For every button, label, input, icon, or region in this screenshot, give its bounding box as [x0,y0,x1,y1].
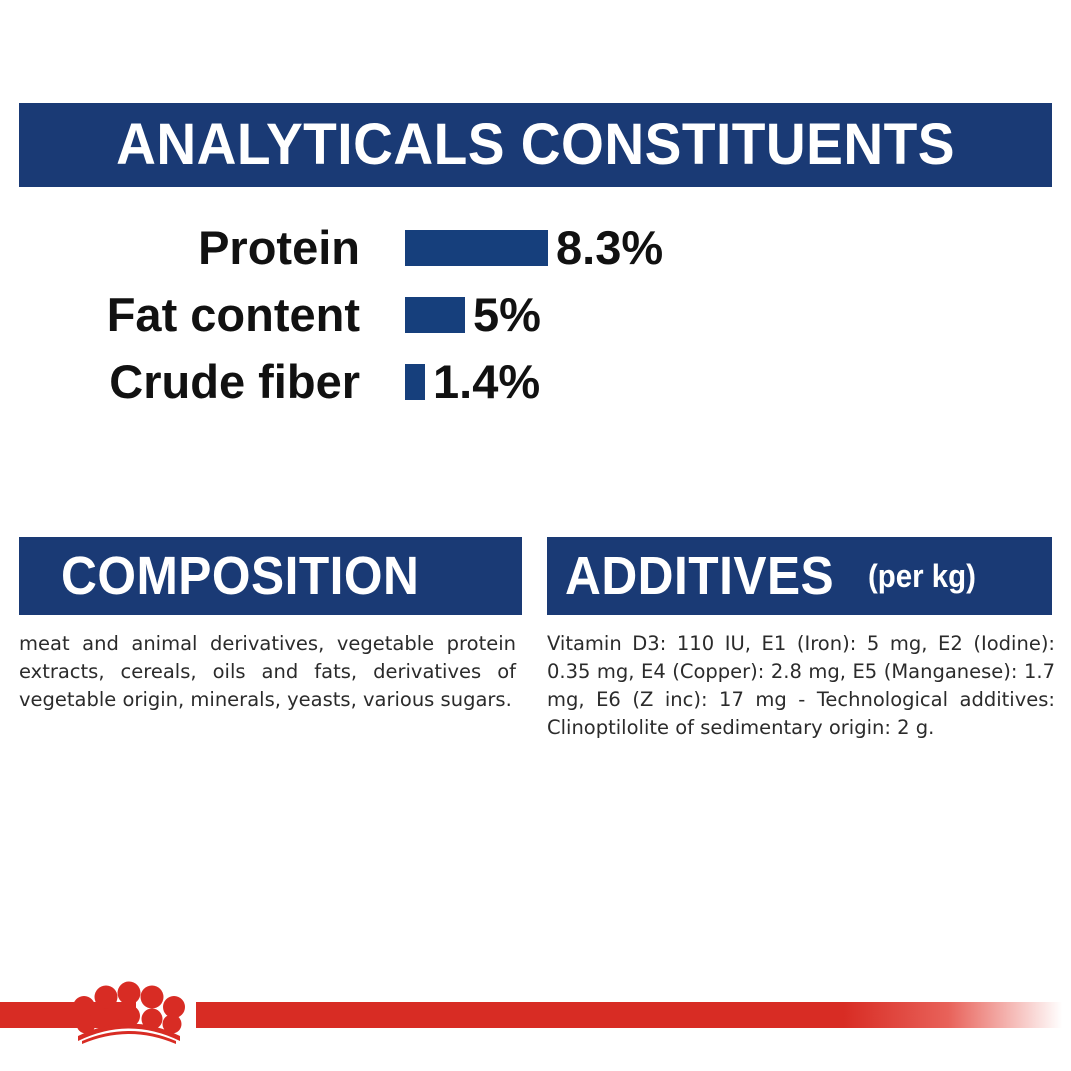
additives-header: ADDITIVES (per kg) [547,537,1052,615]
nutrient-bar-protein [405,230,548,266]
nutrient-label-protein: Protein [0,224,360,271]
footer [0,960,1071,1071]
nutrient-value-protein: 8.3% [556,224,663,271]
nutrient-row-fat-content: Fat content 5% [0,281,1071,348]
analytical-constituents-header: ANALYTICALS CONSTITUENTS [19,103,1052,187]
nutrient-label-fat-content: Fat content [0,291,360,338]
nutrient-label-crude-fiber: Crude fiber [0,358,360,405]
composition-header: COMPOSITION [19,537,522,615]
nutrition-label-page: ANALYTICALS CONSTITUENTS Protein 8.3% Fa… [0,0,1071,1071]
nutrient-row-crude-fiber: Crude fiber 1.4% [0,348,1071,415]
additives-title: ADDITIVES [565,549,834,603]
nutrient-row-protein: Protein 8.3% [0,214,1071,281]
nutrient-bar-wrap-crude-fiber: 1.4% [405,358,540,405]
additives-subtitle: (per kg) [868,560,976,592]
nutrient-bar-fat-content [405,297,465,333]
composition-title: COMPOSITION [61,549,419,603]
footer-stripe-right [196,1002,1071,1028]
nutrient-bar-wrap-protein: 8.3% [405,224,663,271]
additives-text: Vitamin D3: 110 IU, E1 (Iron): 5 mg, E2 … [547,630,1055,742]
constituents-bar-chart: Protein 8.3% Fat content 5% Crude fiber … [0,214,1071,415]
analytical-constituents-title: ANALYTICALS CONSTITUENTS [116,116,955,174]
nutrient-bar-crude-fiber [405,364,425,400]
nutrient-bar-wrap-fat-content: 5% [405,291,541,338]
nutrient-value-fat-content: 5% [473,291,541,338]
composition-text: meat and animal derivatives, vegetable p… [19,630,516,714]
royal-canin-crown-icon [70,972,188,1044]
nutrient-value-crude-fiber: 1.4% [433,358,540,405]
